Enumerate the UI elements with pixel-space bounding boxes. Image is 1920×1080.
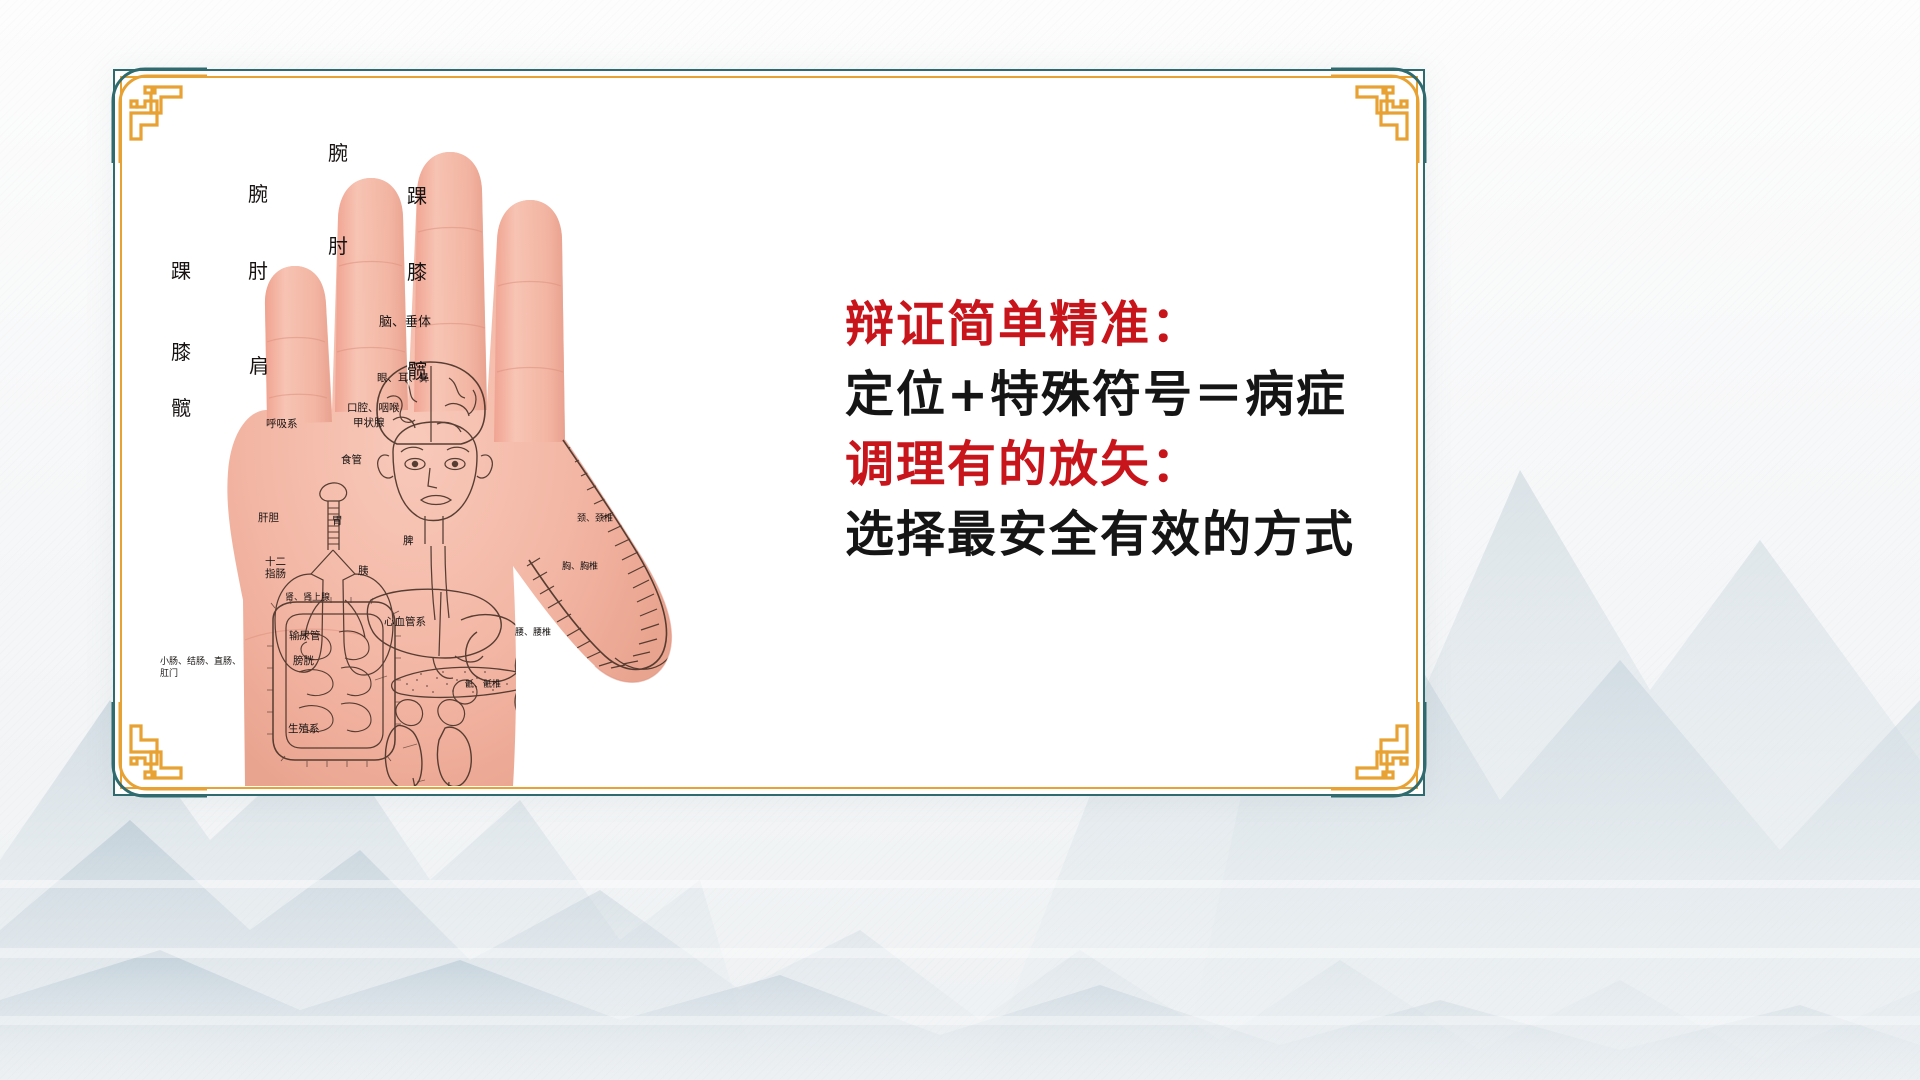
hand-label-kidney-adrenal: 肾、肾上腺	[285, 593, 330, 604]
hand-label-intestines: 小肠、结肠、直肠、 肛门	[160, 656, 241, 680]
hand-label-pinky-ankle: 踝	[171, 260, 192, 284]
hand-label-ring-wrist: 腕	[248, 183, 269, 207]
hand-label-pancreas: 胰	[358, 565, 369, 577]
hand-label-brain-pituitary: 脑、垂体	[379, 315, 431, 330]
heart-lineart	[515, 680, 602, 772]
hand-label-index-ankle: 踝	[407, 185, 428, 209]
slogan-line-1: 辩证简单精准：	[845, 290, 1425, 360]
hand-label-thyroid: 甲状腺	[353, 417, 385, 429]
hand-label-middle-elbow: 肘	[328, 235, 349, 259]
spleen-lineart	[515, 644, 551, 689]
hand-label-bladder: 膀胱	[293, 655, 314, 667]
hand-label-cervical: 颈、颈椎	[577, 514, 613, 525]
hand-label-mouth-throat: 口腔、咽喉	[347, 402, 400, 414]
hand-label-index-knee: 膝	[407, 261, 428, 285]
hand-label-thoracic: 胸、胸椎	[562, 562, 598, 573]
hand-label-eye-ear-nose: 眼、耳、鼻	[377, 372, 430, 384]
hand-label-esophagus: 食管	[341, 454, 362, 466]
hand-label-reproductive: 生殖系	[288, 723, 320, 735]
slogan-line-3: 调理有的放矢：	[845, 430, 1425, 500]
hand-label-pinky-hip: 髋	[171, 397, 192, 421]
hand-label-ring-elbow: 肘	[248, 260, 269, 284]
hand-label-sacral: 骶、骶椎	[465, 680, 501, 691]
hand-label-stomach: 胃	[332, 515, 343, 527]
slogan-line-2: 定位+特殊符号＝病症	[845, 360, 1425, 430]
hand-label-duodenum: 十二 指肠	[265, 556, 286, 581]
hand-label-respiratory: 呼吸系	[266, 418, 298, 430]
hand-label-cardiovascular: 心血管系	[384, 616, 426, 628]
hand-label-pinky-knee: 膝	[171, 341, 192, 365]
slogan-text-panel: 辩证简单精准： 定位+特殊符号＝病症 调理有的放矢： 选择最安全有效的方式	[845, 290, 1425, 570]
hand-reflexology-diagram: 踝 膝 髋 腕 肘 腕 肘 踝 膝 髋 肩 脑、垂体 眼、耳、鼻 口腔、咽喉 甲…	[125, 80, 765, 786]
hand-label-middle-wrist: 腕	[328, 142, 349, 166]
hand-label-shoulder: 肩	[249, 355, 270, 379]
slogan-line-4: 选择最安全有效的方式	[845, 500, 1425, 570]
hand-label-ureter: 输尿管	[289, 630, 321, 642]
hand-label-liver-gall: 肝胆	[258, 512, 279, 524]
hand-label-lumbar: 腰、腰椎	[515, 628, 551, 639]
hand-label-spleen: 脾	[403, 535, 414, 547]
